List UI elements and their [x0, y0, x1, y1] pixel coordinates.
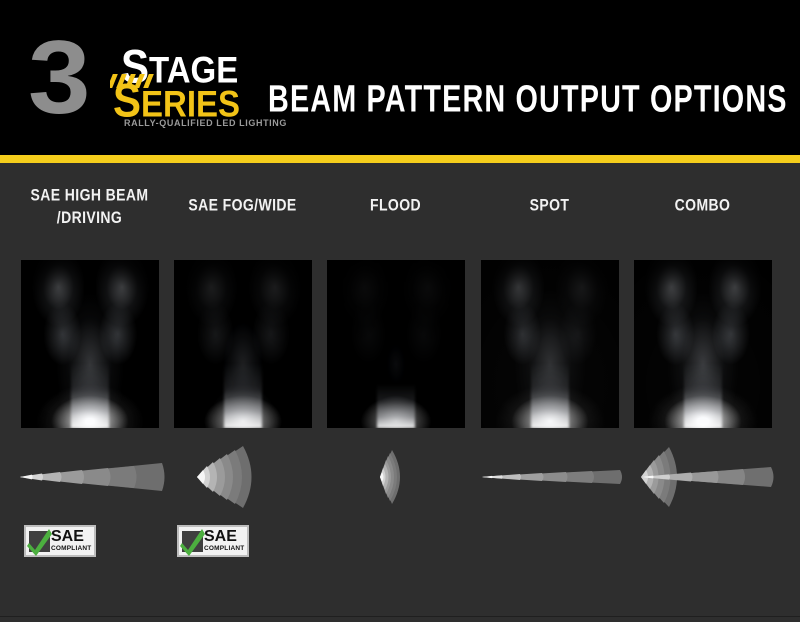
- badge-text: SAE COMPLIANT: [204, 529, 244, 553]
- photo-vignette: [174, 260, 312, 428]
- beam-column-combo: COMBO: [625, 163, 780, 622]
- column-label-line1: SPOT: [472, 194, 627, 216]
- beam-diagram-flood: [318, 441, 473, 513]
- column-label: SAE HIGH BEAM /DRIVING: [12, 184, 167, 229]
- beam-photo-combo: [634, 260, 772, 428]
- beam-shape-wide-fan: [165, 441, 320, 513]
- beam-column-sae-high-beam: SAE HIGH BEAM /DRIVING: [12, 163, 167, 622]
- brand-logo: 3 STAGE SERIES RALLY-QUALIFIED LED LIGHT…: [28, 30, 258, 130]
- column-label-line1: COMBO: [625, 194, 780, 216]
- logo-word-series: SERIES: [113, 82, 240, 122]
- badge-subtitle: COMPLIANT: [51, 545, 91, 553]
- beam-pattern-infographic: 3 STAGE SERIES RALLY-QUALIFIED LED LIGHT…: [0, 0, 800, 622]
- column-label-line1: SAE HIGH BEAM: [12, 184, 167, 206]
- beam-column-sae-fog-wide: SAE FOG/WIDE: [165, 163, 320, 622]
- page-title: BEAM PATTERN OUTPUT OPTIONS: [268, 78, 788, 122]
- accent-divider: [0, 155, 800, 163]
- sae-compliant-badge: SAE COMPLIANT: [177, 525, 249, 557]
- beam-shape-long-narrow: [12, 441, 167, 513]
- sae-compliant-badge: SAE COMPLIANT: [24, 525, 96, 557]
- badge-title: SAE: [51, 529, 91, 544]
- beam-diagram-spot: [472, 441, 627, 513]
- column-label-line2: /DRIVING: [12, 206, 167, 228]
- beam-shape-fan-plus-spot: [625, 441, 780, 513]
- photo-vignette: [634, 260, 772, 428]
- beam-columns: SAE HIGH BEAM /DRIVING: [0, 163, 800, 622]
- header-bar: 3 STAGE SERIES RALLY-QUALIFIED LED LIGHT…: [0, 0, 800, 155]
- column-label: SPOT: [472, 194, 627, 216]
- beam-photo-spot: [481, 260, 619, 428]
- badge-title: SAE: [204, 529, 244, 544]
- logo-numeral-3: 3: [28, 26, 86, 130]
- column-label-line1: SAE FOG/WIDE: [165, 194, 320, 216]
- column-label-line1: FLOOD: [318, 194, 473, 216]
- beam-photo-sae-fog-wide: [174, 260, 312, 428]
- checkmark-icon: [29, 531, 50, 552]
- photo-vignette: [327, 260, 465, 428]
- beam-column-flood: FLOOD: [318, 163, 473, 622]
- badge-subtitle: COMPLIANT: [204, 545, 244, 553]
- photo-vignette: [481, 260, 619, 428]
- column-label: FLOOD: [318, 194, 473, 216]
- beam-diagram-sae-fog-wide: [165, 441, 320, 513]
- logo-tagline: RALLY-QUALIFIED LED LIGHTING: [124, 118, 287, 128]
- beam-photo-flood: [327, 260, 465, 428]
- photo-vignette: [21, 260, 159, 428]
- badge-text: SAE COMPLIANT: [51, 529, 91, 553]
- beam-diagram-sae-high-beam: [12, 441, 167, 513]
- column-label: SAE FOG/WIDE: [165, 194, 320, 216]
- beam-column-spot: SPOT: [472, 163, 627, 622]
- beam-photo-sae-high-beam: [21, 260, 159, 428]
- beam-shape-round-flood: [318, 441, 473, 513]
- bottom-divider: [0, 616, 800, 617]
- beam-shape-long-thin: [472, 441, 627, 513]
- column-label: COMBO: [625, 194, 780, 216]
- beam-diagram-combo: [625, 441, 780, 513]
- checkmark-icon: [182, 531, 203, 552]
